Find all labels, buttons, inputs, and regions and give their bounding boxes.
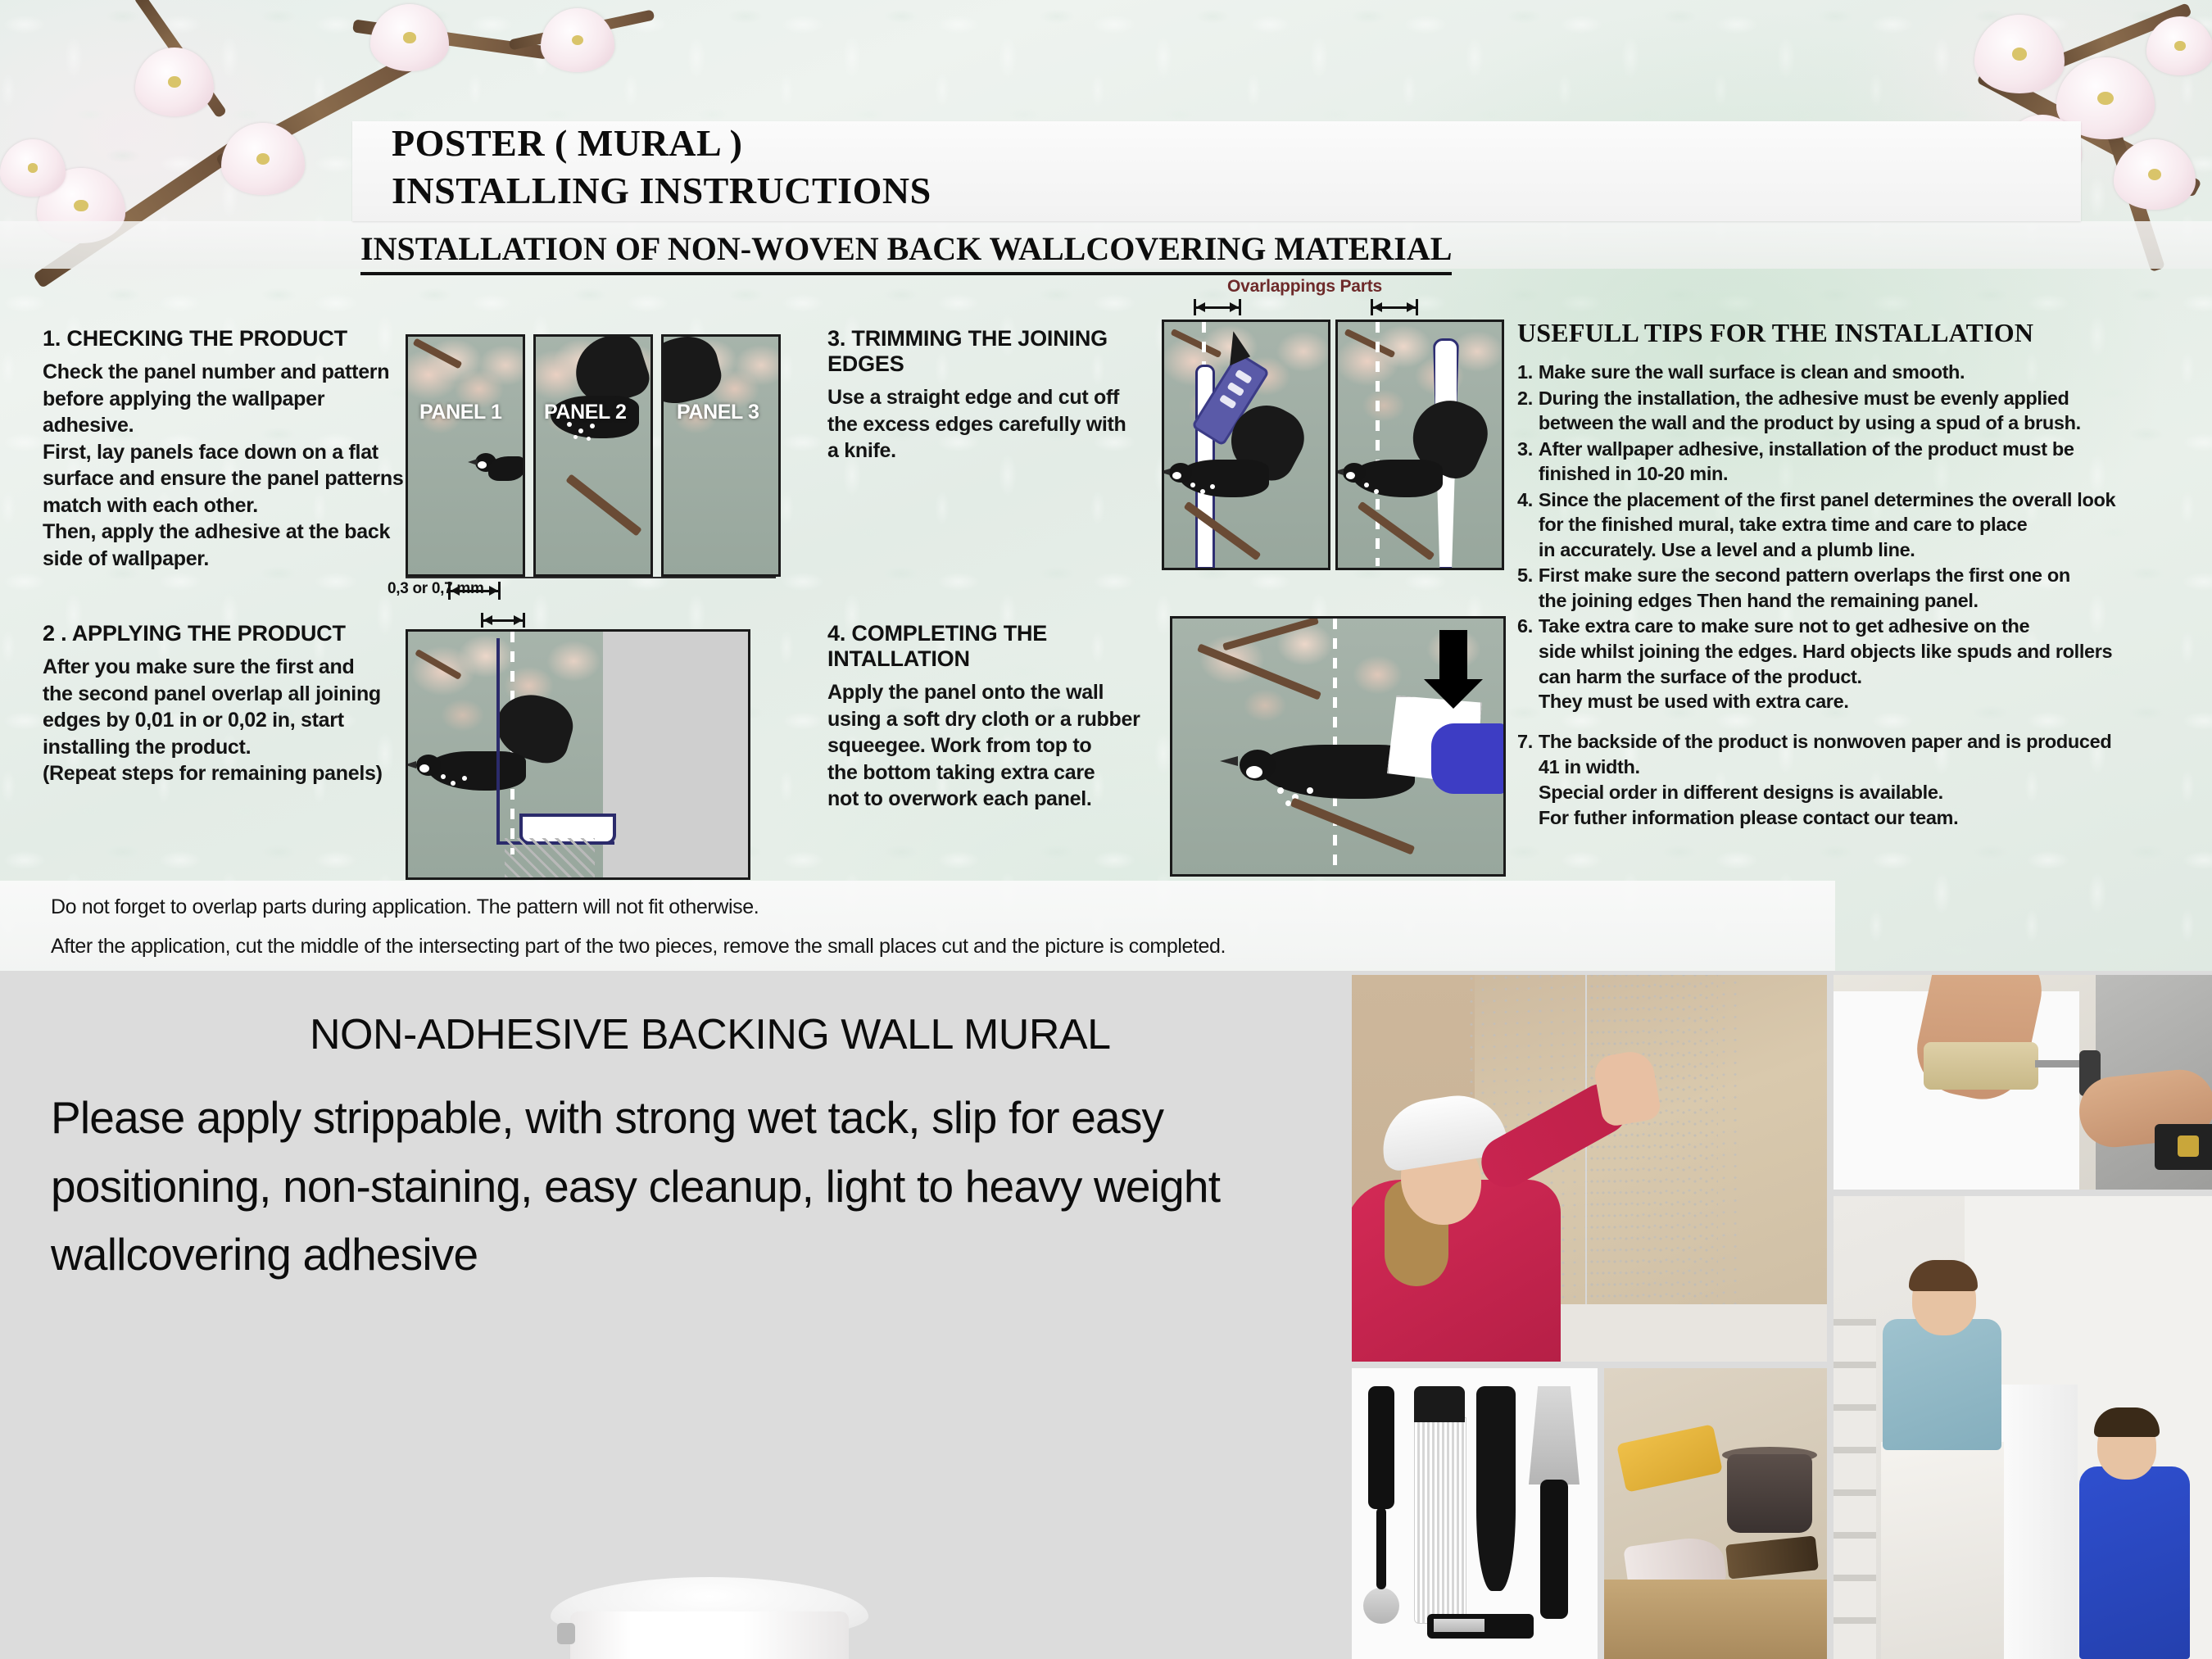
tip-item: 4. Since the placement of the first pane… xyxy=(1517,487,2124,563)
step-3-diagram xyxy=(1162,320,1506,575)
bird-illustration xyxy=(475,442,524,491)
scraper-handle xyxy=(1540,1480,1568,1619)
tip-number: 1. xyxy=(1517,360,1533,385)
bird-illustration xyxy=(661,338,739,445)
seam-roller-handle xyxy=(1368,1386,1394,1509)
tip-number: 5. xyxy=(1517,563,1533,613)
smoothing-brush-bristles xyxy=(1414,1417,1466,1624)
bucket-body xyxy=(570,1611,849,1659)
tip-item-final: 7. The backside of the product is nonwov… xyxy=(1517,729,2124,831)
bucket-handle xyxy=(557,1623,575,1644)
step-4-heading: 4. COMPLETING THE INTALLATION xyxy=(827,621,1172,672)
step-4: 4. COMPLETING THE INTALLATION Apply the … xyxy=(827,621,1172,813)
tip-number: 6. xyxy=(1517,614,1533,714)
bird-illustration xyxy=(1343,445,1490,551)
tip-text: First make sure the second pattern overl… xyxy=(1539,563,2124,613)
panel-1-label: PANEL 1 xyxy=(419,401,501,424)
photo-paste-and-tools-on-table xyxy=(1604,1368,1827,1659)
panel-2-frame: PANEL 2 xyxy=(533,334,653,577)
poster-title: POSTER ( MURAL ) INSTALLING INSTRUCTIONS xyxy=(392,123,1702,211)
tip-text: During the installation, the adhesive mu… xyxy=(1539,386,2124,436)
step-3: 3. TRIMMING THE JOINING EDGES Use a stra… xyxy=(827,326,1172,465)
step-4-diagram xyxy=(1170,616,1506,878)
tips-heading: USEFULL TIPS FOR THE INSTALLATION xyxy=(1517,318,2124,348)
tips-list: 1. Make sure the wall surface is clean a… xyxy=(1517,360,2124,714)
photo-woman-hanging-wallpaper xyxy=(1352,975,1827,1362)
tip-item: 6. Take extra care to make sure not to g… xyxy=(1517,614,2124,714)
squeegee-frame xyxy=(1170,616,1506,877)
step-3-body: Use a straight edge and cut off the exce… xyxy=(827,384,1172,465)
product-title: NON-ADHESIVE BACKING WALL MURAL xyxy=(310,1010,1111,1059)
step-1-heading: 1. CHECKING THE PRODUCT xyxy=(43,326,411,351)
step-1-body: Check the panel number and pattern befor… xyxy=(43,359,411,572)
step-1: 1. CHECKING THE PRODUCT Check the panel … xyxy=(43,326,411,572)
hatch-area xyxy=(505,838,595,877)
useful-tips-section: USEFULL TIPS FOR THE INSTALLATION 1. Mak… xyxy=(1517,318,2124,831)
bird-illustration xyxy=(1169,445,1317,551)
tip-text: Take extra care to make sure not to get … xyxy=(1539,614,2124,714)
overlap-annotation: Ovarlappings Parts xyxy=(1162,277,1506,318)
photo-two-people-applying-mural xyxy=(1834,1196,2212,1659)
trim-frame-edge xyxy=(1335,320,1504,570)
step-3-heading: 3. TRIMMING THE JOINING EDGES xyxy=(827,326,1172,377)
adhesive-bucket xyxy=(551,1577,868,1659)
product-description: Please apply strippable, with strong wet… xyxy=(51,1084,1329,1290)
photo-installation-tool-kit xyxy=(1352,1368,1598,1659)
tip-item: 5. First make sure the second pattern ov… xyxy=(1517,563,2124,613)
tip-text: After wallpaper adhesive, installation o… xyxy=(1539,437,2124,487)
note-line-1: Do not forget to overlap parts during ap… xyxy=(51,895,759,919)
step-2: 2 . APPLYING THE PRODUCT After you make … xyxy=(43,621,411,787)
title-line-1: POSTER ( MURAL ) xyxy=(392,123,1702,164)
gloved-hand xyxy=(1431,723,1506,794)
tip-item: 2. During the installation, the adhesive… xyxy=(1517,386,2124,436)
panel-2-label: PANEL 2 xyxy=(544,401,626,424)
step-2-heading: 2 . APPLYING THE PRODUCT xyxy=(43,621,411,646)
panel-1-frame: PANEL 1 xyxy=(406,334,525,577)
tip-number: 4. xyxy=(1517,487,1533,563)
step-4-body: Apply the panel onto the wall using a so… xyxy=(827,679,1172,813)
step-2-diagram xyxy=(406,614,750,877)
title-line-2: INSTALLING INSTRUCTIONS xyxy=(392,170,1702,211)
tip-text: The backside of the product is nonwoven … xyxy=(1539,729,2111,831)
tip-item: 1. Make sure the wall surface is clean a… xyxy=(1517,360,2124,385)
tip-number: 3. xyxy=(1517,437,1533,487)
trim-frame-knife xyxy=(1162,320,1330,570)
footer-notes: Do not forget to overlap parts during ap… xyxy=(0,881,1835,971)
tip-item: 3. After wallpaper adhesive, installatio… xyxy=(1517,437,2124,487)
poster-page: POSTER ( MURAL ) INSTALLING INSTRUCTIONS… xyxy=(0,0,2212,1659)
tip-text: Make sure the wall surface is clean and … xyxy=(1539,360,2124,385)
step-1-diagram: PANEL 1 PANEL 2 xyxy=(406,334,782,588)
tip-text: Since the placement of the first panel d… xyxy=(1539,487,2124,563)
overlap-frame xyxy=(406,629,750,880)
tip-number: 2. xyxy=(1517,386,1533,436)
down-arrow-icon xyxy=(1439,630,1467,681)
scraper-blade xyxy=(1529,1386,1580,1484)
gap-baseline xyxy=(406,577,776,578)
poster-subtitle: INSTALLATION OF NON-WOVEN BACK WALLCOVER… xyxy=(360,229,1452,275)
seam-roller-wheel xyxy=(1363,1588,1399,1624)
panel-3-frame: PANEL 3 xyxy=(661,334,781,577)
step-2-body: After you make sure the first and the se… xyxy=(43,654,411,787)
panel-3-label: PANEL 3 xyxy=(677,401,759,424)
gap-dimension-label: 0,3 or 0,7 mm xyxy=(388,580,484,598)
note-line-2: After the application, cut the middle of… xyxy=(51,935,1226,959)
photo-collage xyxy=(1352,975,2212,1659)
overlap-parts-label: Ovarlappings Parts xyxy=(1227,277,1382,297)
plastic-smoother xyxy=(1476,1386,1516,1591)
tip-number: 7. xyxy=(1517,729,1533,831)
photo-pasting-with-roller xyxy=(1834,975,2212,1190)
instruction-sheet: POSTER ( MURAL ) INSTALLING INSTRUCTIONS… xyxy=(0,0,2212,971)
